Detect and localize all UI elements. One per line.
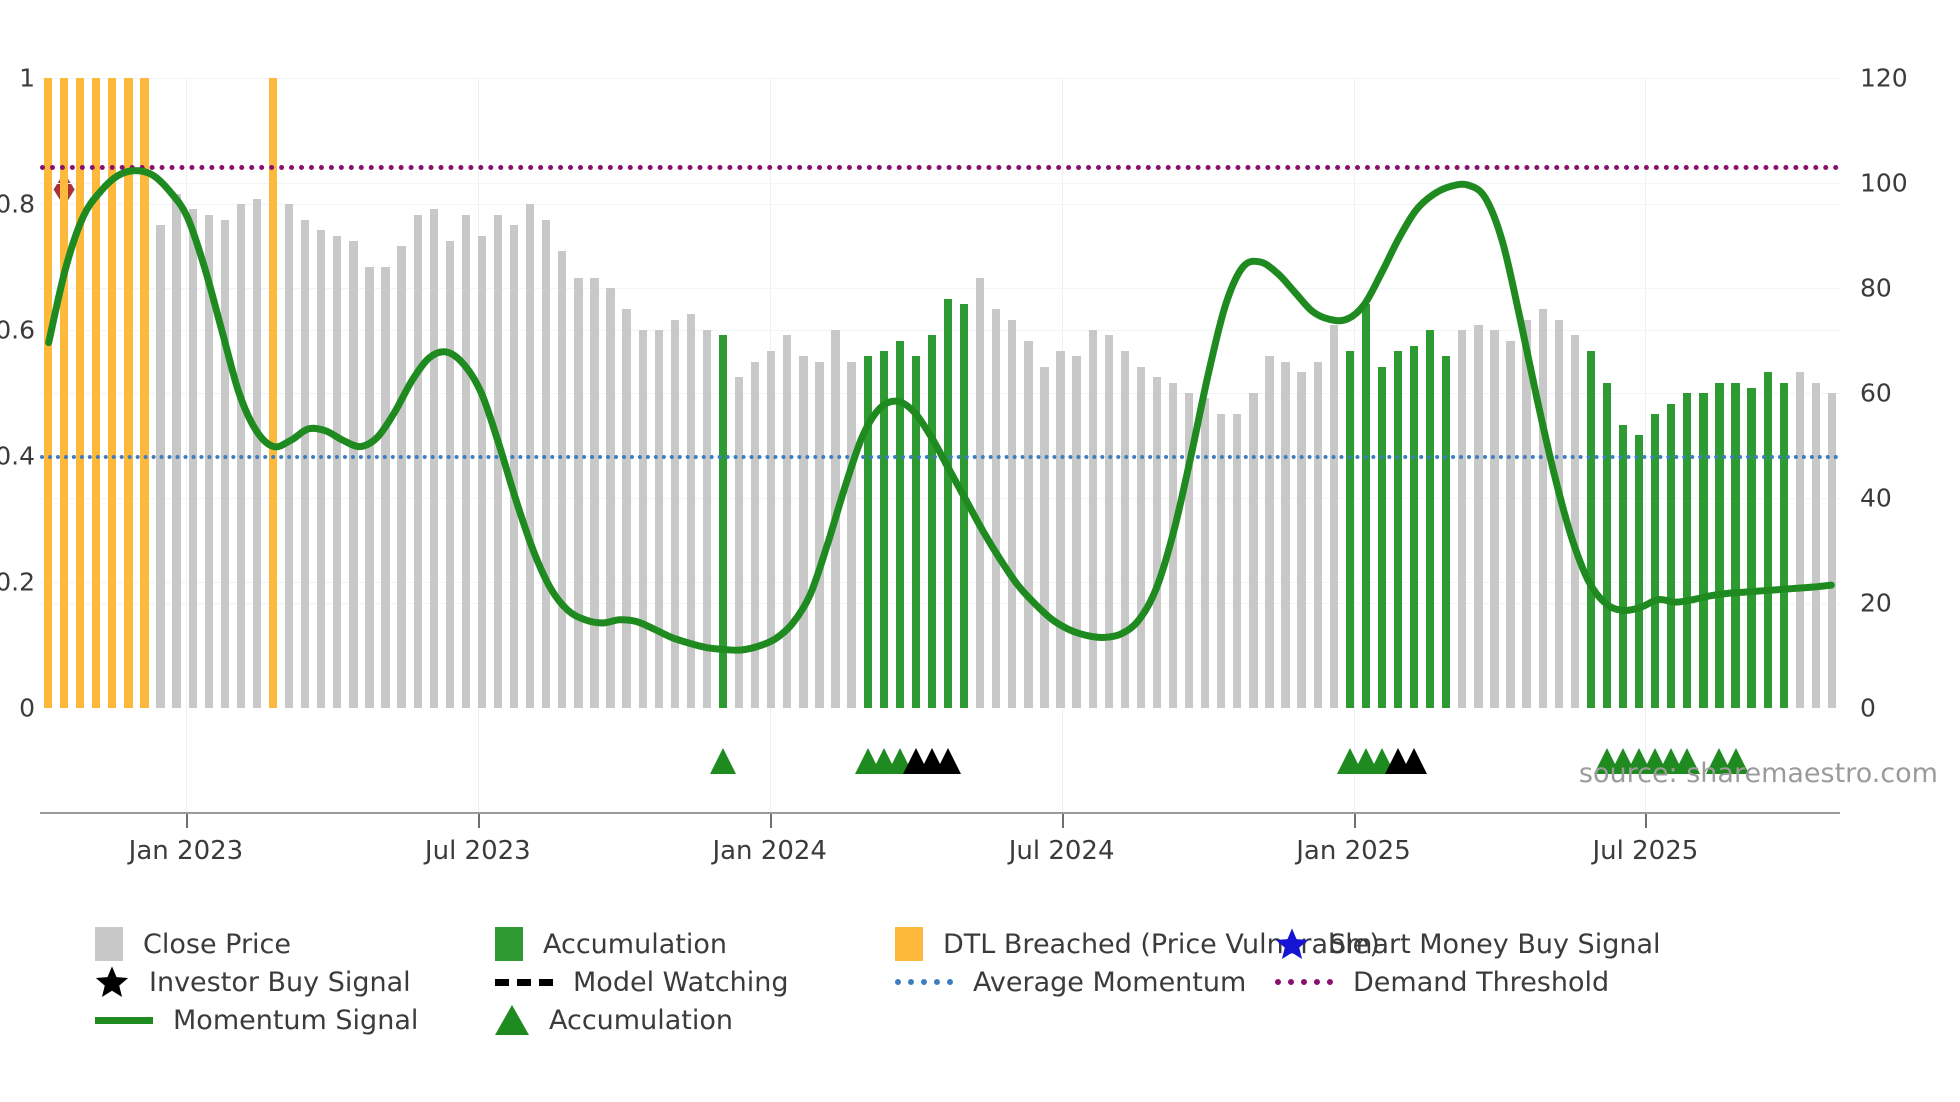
right-axis-tick-label: 60	[1860, 379, 1892, 408]
x-tick-label: Jan 2023	[129, 836, 244, 866]
right-axis-tick-label: 0	[1860, 694, 1876, 723]
x-tick-mark	[770, 814, 772, 828]
x-tick-label: Jul 2023	[425, 836, 531, 866]
x-axis-line	[40, 812, 1840, 814]
legend-label: Average Momentum	[973, 967, 1246, 998]
investor-buy-triangle	[1401, 748, 1427, 774]
legend-label: Demand Threshold	[1353, 967, 1609, 998]
solid-line-swatch	[95, 1017, 153, 1024]
accumulation-marker-row	[40, 740, 1840, 774]
legend-label: Model Watching	[573, 967, 788, 998]
chart-legend: Close PriceAccumulationDTL Breached (Pri…	[95, 925, 1935, 1039]
left-axis-tick-label: 0	[19, 694, 35, 723]
right-axis-tick-label: 40	[1860, 484, 1892, 513]
legend-item-demand-threshold[interactable]: Demand Threshold	[1275, 963, 1609, 1001]
plot-clip	[40, 78, 1840, 708]
left-axis-tick-label: 0.4	[0, 442, 35, 471]
x-tick-label: Jan 2024	[712, 836, 827, 866]
star-icon	[1275, 927, 1309, 961]
close-price-swatch	[95, 927, 123, 961]
left-axis-tick-label: 0.2	[0, 568, 35, 597]
legend-item-smart-money-buy-signal[interactable]: Smart Money Buy Signal	[1275, 925, 1661, 963]
triangle-icon	[495, 1005, 529, 1035]
chart-root: 00.20.40.60.81 020406080100120 Jan 2023J…	[0, 0, 1960, 1102]
investor-buy-triangle	[935, 748, 961, 774]
legend-label: Accumulation	[543, 929, 727, 960]
accumulation-triangle	[710, 748, 736, 774]
legend-item-accumulation-bar[interactable]: Accumulation	[495, 925, 727, 963]
legend-row: Momentum SignalAccumulation	[95, 1001, 1935, 1039]
dotted-line-swatch	[1275, 979, 1333, 985]
left-axis-tick-label: 0.8	[0, 190, 35, 219]
right-axis-tick-label: 100	[1860, 169, 1908, 198]
legend-row: Investor Buy SignalModel WatchingAverage…	[95, 963, 1935, 1001]
legend-item-average-momentum[interactable]: Average Momentum	[895, 963, 1246, 1001]
dashed-line-swatch	[495, 979, 553, 986]
x-tick-label: Jan 2025	[1296, 836, 1411, 866]
right-axis-tick-label: 20	[1860, 589, 1892, 618]
legend-label: Investor Buy Signal	[149, 967, 411, 998]
legend-item-model-watching[interactable]: Model Watching	[495, 963, 788, 1001]
x-tick-mark	[1354, 814, 1356, 828]
right-axis-tick-label: 80	[1860, 274, 1892, 303]
dtl-breached-swatch	[895, 927, 923, 961]
legend-label: Momentum Signal	[173, 1005, 418, 1036]
legend-row: Close PriceAccumulationDTL Breached (Pri…	[95, 925, 1935, 963]
x-tick-mark	[186, 814, 188, 828]
x-tick-mark	[478, 814, 480, 828]
dotted-line-swatch	[895, 979, 953, 985]
legend-label: Close Price	[143, 929, 291, 960]
star-icon	[95, 965, 129, 999]
left-axis-tick-label: 1	[19, 64, 35, 93]
momentum-signal-curve	[40, 78, 1840, 708]
x-tick-label: Jul 2025	[1592, 836, 1698, 866]
accumulation-swatch	[495, 927, 523, 961]
legend-label: Accumulation	[549, 1005, 733, 1036]
x-tick-label: Jul 2024	[1009, 836, 1115, 866]
x-tick-mark	[1645, 814, 1647, 828]
legend-item-momentum-signal[interactable]: Momentum Signal	[95, 1001, 418, 1039]
source-note: source: sharemaestro.com	[1579, 758, 1938, 789]
x-tick-mark	[1062, 814, 1064, 828]
legend-item-investor-buy-signal[interactable]: Investor Buy Signal	[95, 963, 411, 1001]
legend-item-close-price[interactable]: Close Price	[95, 925, 291, 963]
legend-item-accumulation-marker[interactable]: Accumulation	[495, 1001, 733, 1039]
plot-area	[40, 78, 1840, 708]
legend-label: Smart Money Buy Signal	[1329, 929, 1661, 960]
right-axis-tick-label: 120	[1860, 64, 1908, 93]
left-axis-tick-label: 0.6	[0, 316, 35, 345]
